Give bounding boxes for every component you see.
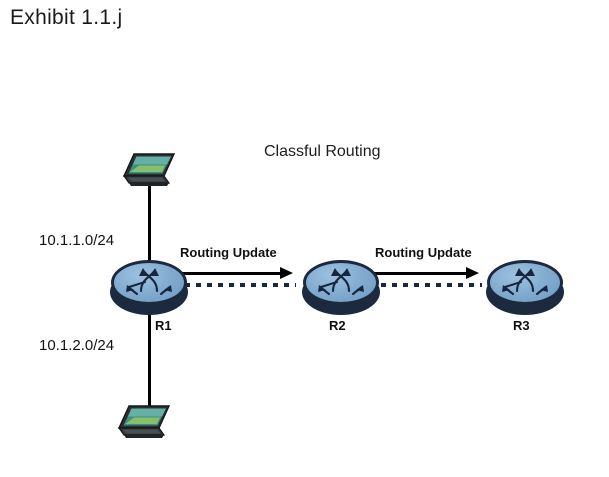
- router-label-r3: R3: [513, 318, 530, 333]
- arrow-shaft: [370, 272, 468, 275]
- routing-update-arrow-r2-r3: [370, 266, 482, 288]
- laptop-icon: [112, 404, 176, 446]
- laptop-glyph: [112, 404, 176, 446]
- router-arrows-icon: [499, 265, 551, 299]
- arrow-shaft: [174, 272, 282, 275]
- router-arrows-icon: [315, 265, 367, 299]
- dotted-link-line: [174, 283, 296, 287]
- laptop-glyph: [117, 152, 181, 194]
- arrow-right-icon: [280, 267, 293, 279]
- laptop-icon: [117, 152, 181, 194]
- router-label-r2: R2: [329, 318, 346, 333]
- routing-update-arrow-r1-r2: [174, 266, 296, 288]
- router-icon: [486, 260, 564, 318]
- routing-update-label: Routing Update: [375, 245, 472, 260]
- diagram-title: Classful Routing: [264, 143, 381, 161]
- network-label-lower: 10.1.2.0/24: [39, 337, 114, 354]
- network-label-upper: 10.1.1.0/24: [39, 232, 114, 249]
- arrow-right-icon: [466, 267, 479, 279]
- exhibit-title: Exhibit 1.1.j: [10, 6, 122, 30]
- diagram-canvas: Exhibit 1.1.j Classful Routing 10.1.1.0/…: [0, 0, 609, 477]
- router-label-r1: R1: [155, 318, 172, 333]
- router-arrows-icon: [123, 265, 175, 299]
- router-icon: [302, 260, 380, 318]
- dotted-link-line: [370, 283, 482, 287]
- router-icon: [110, 260, 188, 318]
- routing-update-label: Routing Update: [180, 245, 277, 260]
